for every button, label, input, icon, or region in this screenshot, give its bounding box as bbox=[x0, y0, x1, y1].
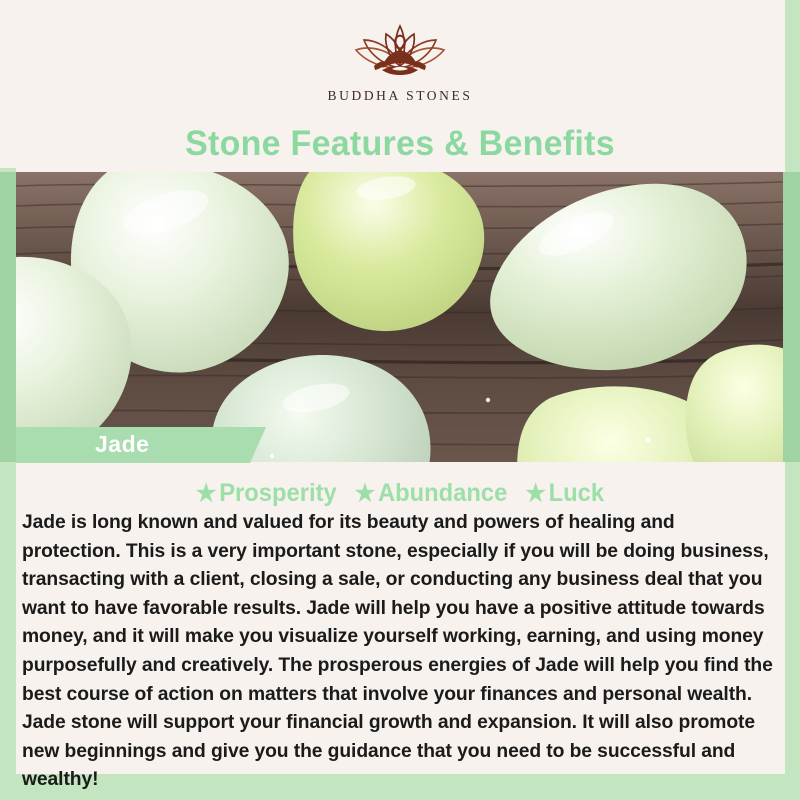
brand-logo: BUDDHA STONES bbox=[0, 22, 800, 104]
photo-right-green-strip bbox=[783, 172, 800, 462]
stone-name: Jade bbox=[95, 431, 149, 458]
stone-description: Jade is long known and valued for its be… bbox=[22, 508, 777, 794]
lotus-meditation-icon bbox=[330, 22, 470, 84]
benefit-item: ★Prosperity bbox=[196, 479, 337, 508]
star-icon: ★ bbox=[525, 480, 545, 507]
photo-left-green-strip bbox=[0, 172, 16, 462]
description-text: Jade is long known and valued for its be… bbox=[22, 508, 777, 794]
benefit-item: ★Abundance bbox=[355, 479, 508, 508]
brand-name: BUDDHA STONES bbox=[328, 88, 473, 104]
star-icon: ★ bbox=[196, 480, 216, 507]
infographic-card: BUDDHA STONES Stone Features & Benefits bbox=[0, 0, 800, 800]
benefit-label: Prosperity bbox=[219, 479, 336, 507]
star-icon: ★ bbox=[355, 480, 375, 507]
benefit-label: Luck bbox=[549, 479, 604, 507]
benefit-label: Abundance bbox=[378, 479, 507, 507]
page-title: Stone Features & Benefits bbox=[12, 124, 788, 164]
jade-stones-photo bbox=[16, 172, 783, 462]
benefit-item: ★Luck bbox=[525, 479, 604, 508]
stone-name-band-tail bbox=[250, 427, 266, 463]
photo-svg bbox=[16, 172, 783, 462]
benefits-row: ★Prosperity ★Abundance ★Luck bbox=[20, 479, 780, 508]
